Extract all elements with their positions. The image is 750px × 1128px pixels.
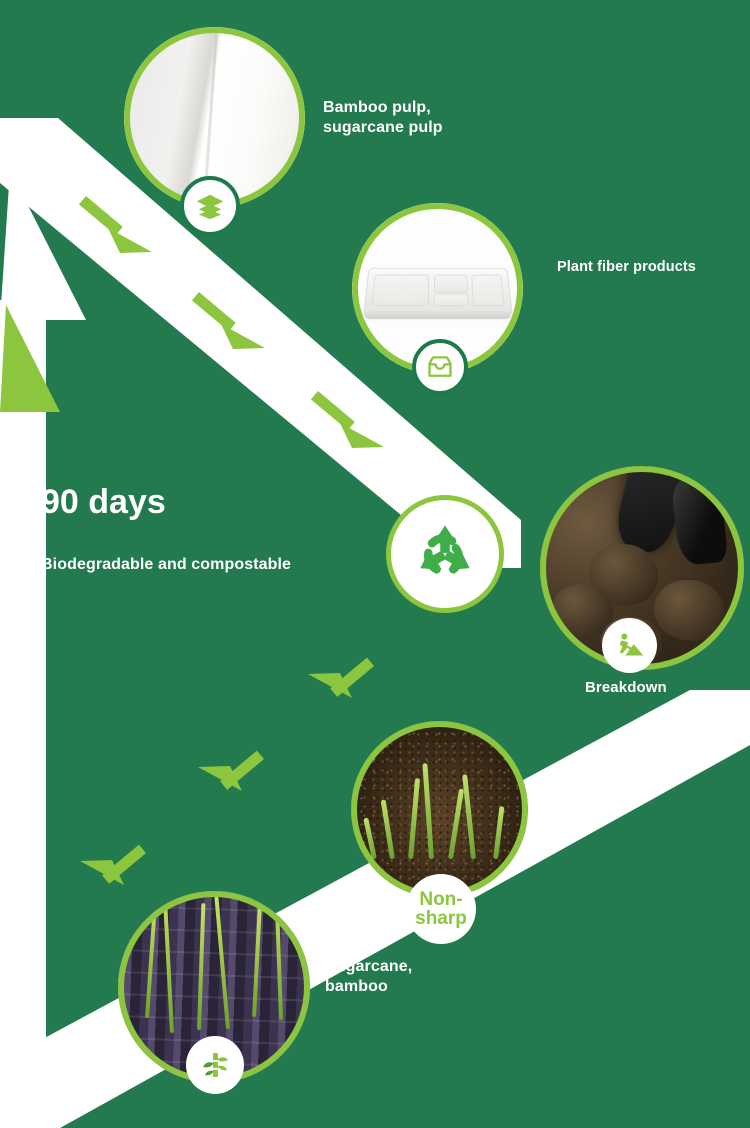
digging-worker-icon bbox=[613, 629, 647, 663]
flow-arrow-4 bbox=[308, 658, 374, 698]
label-raw-pulp: Bamboo pulp, sugarcane pulp bbox=[323, 98, 443, 137]
non-sharp-stamp[interactable]: Non- sharp bbox=[406, 874, 476, 944]
bamboo-icon-badge[interactable] bbox=[186, 1036, 244, 1094]
recycle-icon bbox=[407, 516, 483, 592]
flow-arrow-5 bbox=[198, 751, 264, 791]
headline-duration: 90 days bbox=[41, 482, 166, 523]
label-return-to-nature: Return to nature bbox=[556, 792, 628, 831]
label-raw-crops: Sugarcane, bamboo bbox=[325, 957, 412, 996]
tray-illustration bbox=[363, 267, 512, 315]
layers-icon-badge[interactable] bbox=[180, 176, 240, 236]
recycle-node[interactable] bbox=[386, 495, 504, 613]
photo-bubble-return-to-nature[interactable] bbox=[351, 721, 528, 898]
non-sharp-stamp-text: Non- sharp bbox=[415, 890, 467, 929]
biodegradable-lifecycle-infographic: Bamboo pulp, sugarcane pulp Plant fiber … bbox=[0, 0, 750, 1128]
digging-worker-icon-badge[interactable] bbox=[602, 618, 657, 673]
tray-lip bbox=[364, 311, 511, 320]
photo-sprouts-in-soil bbox=[351, 721, 528, 898]
tray-icon bbox=[426, 353, 454, 381]
label-plant-fiber: Plant fiber products bbox=[557, 259, 696, 277]
tray-icon-badge[interactable] bbox=[412, 339, 468, 395]
layers-icon bbox=[195, 191, 225, 221]
flow-arrow-6 bbox=[80, 845, 146, 885]
bamboo-icon bbox=[199, 1049, 231, 1081]
headline-subtitle: Biodegradable and compostable bbox=[41, 555, 291, 575]
label-breakdown: Breakdown bbox=[585, 679, 667, 697]
